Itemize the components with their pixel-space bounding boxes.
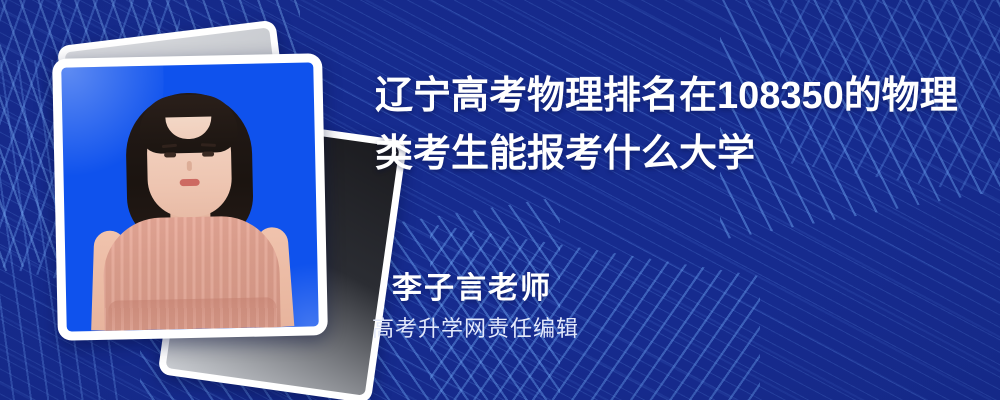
page-title: 辽宁高考物理排名在108350的物理 类考生能报考什么大学	[375, 67, 975, 183]
portrait-dress-waist	[108, 297, 277, 331]
byline: 李子言老师 高考升学网责任编辑	[392, 270, 912, 344]
author-name: 李子言老师	[392, 270, 912, 308]
article-cover-banner: 辽宁高考物理排名在108350的物理 类考生能报考什么大学 李子言老师 高考升学…	[0, 0, 1000, 400]
portrait-eye-right	[202, 151, 214, 156]
photo-card-stack	[55, 30, 355, 370]
portrait-figure	[83, 91, 298, 331]
page-title-line-2: 类考生能报考什么大学	[375, 125, 975, 183]
page-title-line-1: 辽宁高考物理排名在108350的物理	[375, 67, 975, 125]
portrait-mouth	[180, 179, 200, 186]
photo-card-front	[52, 53, 328, 341]
portrait-nose	[187, 161, 192, 171]
portrait-hair-front	[139, 94, 238, 154]
author-role: 高考升学网责任编辑	[372, 314, 912, 344]
portrait-eye-left	[164, 152, 176, 157]
author-portrait-photo	[61, 62, 318, 331]
